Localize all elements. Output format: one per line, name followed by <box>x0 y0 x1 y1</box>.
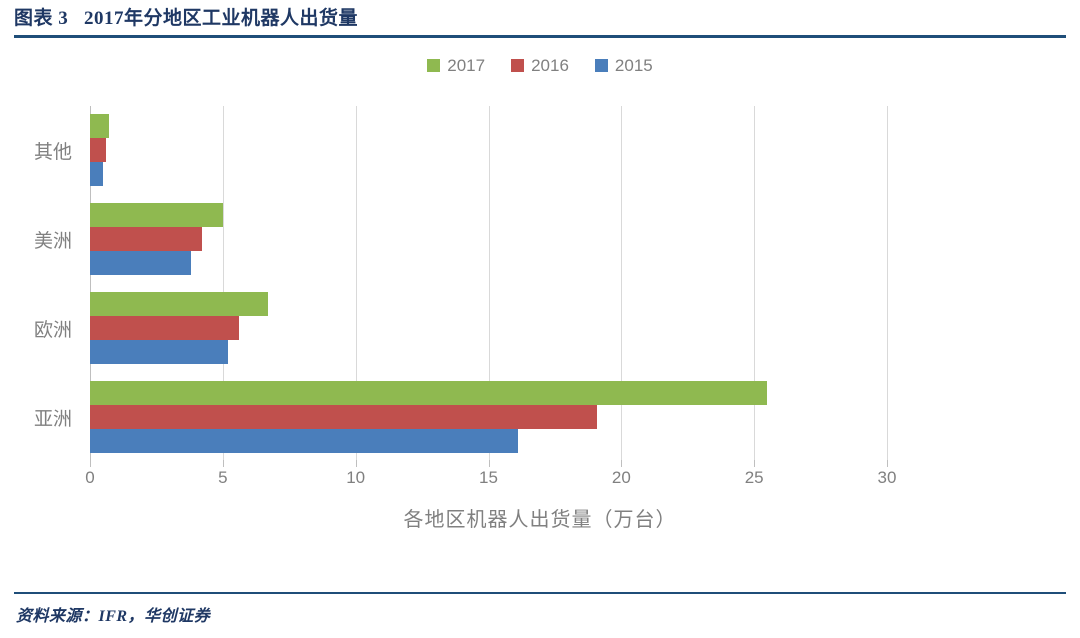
legend-label: 2017 <box>447 57 485 74</box>
page-title: 图表 3 2017年分地区工业机器人出货量 <box>14 6 1066 32</box>
x-tick-label-25: 25 <box>745 468 764 488</box>
x-tick-mark-0 <box>90 460 91 467</box>
legend-item-2015[interactable]: 2015 <box>595 57 653 74</box>
bar-欧洲-2015 <box>90 340 228 364</box>
x-tick-mark-5 <box>223 460 224 467</box>
bar-其他-2016 <box>90 138 106 162</box>
bar-美洲-2017 <box>90 203 223 227</box>
chart-legend: 201720162015 <box>0 54 1080 76</box>
legend-item-2016[interactable]: 2016 <box>511 57 569 74</box>
x-tick-mark-30 <box>887 460 888 467</box>
chart-container: 其他美洲欧洲亚洲 051015202530 各地区机器人出货量（万台） <box>0 88 1080 528</box>
source-note: 资料来源：IFR，华创证券 <box>16 602 210 626</box>
plot-area <box>90 106 887 461</box>
gridline-20 <box>621 106 622 461</box>
bar-其他-2017 <box>90 114 109 138</box>
figure-header: 图表 3 2017年分地区工业机器人出货量 <box>0 0 1080 32</box>
x-tick-label-20: 20 <box>612 468 631 488</box>
bar-美洲-2015 <box>90 251 191 275</box>
legend-swatch-icon <box>595 59 608 72</box>
legend-item-2017[interactable]: 2017 <box>427 57 485 74</box>
gridline-30 <box>887 106 888 461</box>
x-tick-mark-20 <box>621 460 622 467</box>
x-tick-label-30: 30 <box>878 468 897 488</box>
x-axis-title: 各地区机器人出货量（万台） <box>0 503 1080 532</box>
gridline-25 <box>754 106 755 461</box>
x-tick-label-0: 0 <box>85 468 94 488</box>
bar-欧洲-2017 <box>90 292 268 316</box>
x-tick-label-15: 15 <box>479 468 498 488</box>
x-tick-mark-15 <box>489 460 490 467</box>
bar-亚洲-2017 <box>90 381 767 405</box>
y-axis-category-labels: 其他美洲欧洲亚洲 <box>0 106 80 461</box>
bar-欧洲-2016 <box>90 316 239 340</box>
x-tick-mark-25 <box>754 460 755 467</box>
y-axis-label-亚洲: 亚洲 <box>34 404 72 431</box>
x-tick-label-10: 10 <box>346 468 365 488</box>
legend-swatch-icon <box>511 59 524 72</box>
y-axis-label-美洲: 美洲 <box>34 226 72 253</box>
bar-亚洲-2016 <box>90 405 597 429</box>
x-tick-label-5: 5 <box>218 468 227 488</box>
x-tick-mark-10 <box>356 460 357 467</box>
x-axis-ticks: 051015202530 <box>90 468 887 494</box>
footer-divider <box>14 592 1066 594</box>
y-axis-label-欧洲: 欧洲 <box>34 315 72 342</box>
legend-swatch-icon <box>427 59 440 72</box>
legend-label: 2016 <box>531 57 569 74</box>
bar-亚洲-2015 <box>90 429 518 453</box>
legend-label: 2015 <box>615 57 653 74</box>
y-axis-label-其他: 其他 <box>34 137 72 164</box>
bar-其他-2015 <box>90 162 103 186</box>
bar-美洲-2016 <box>90 227 202 251</box>
title-divider <box>14 35 1066 38</box>
